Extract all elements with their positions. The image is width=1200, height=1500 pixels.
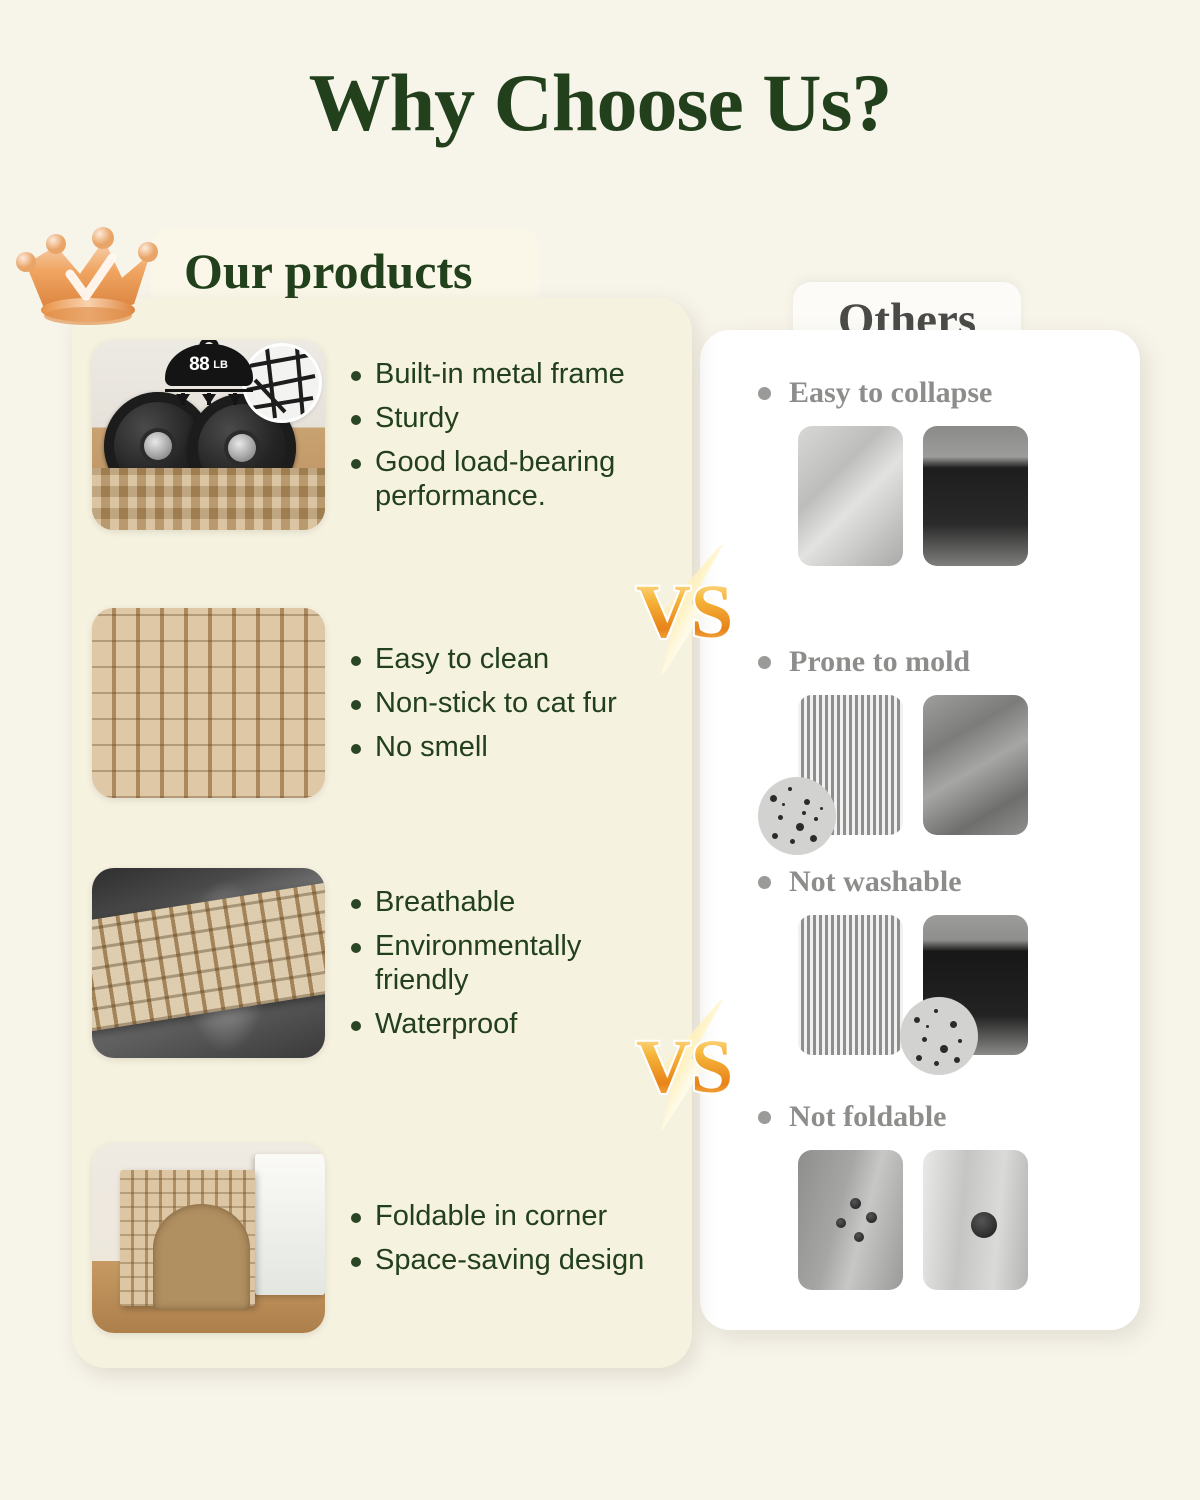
bullet-dot-icon	[351, 943, 361, 953]
others-thumb	[923, 1150, 1028, 1290]
others-row-collapse: Easy to collapse	[700, 376, 1140, 566]
others-thumb	[798, 1150, 903, 1290]
page-title: Why Choose Us?	[0, 62, 1200, 144]
down-arrow-icon	[228, 394, 242, 405]
others-row-label: Prone to mold	[789, 645, 970, 679]
feature-label: Non-stick to cat fur	[375, 686, 617, 720]
others-thumb	[923, 426, 1028, 566]
woven-rattan-texture-photo	[92, 608, 325, 798]
others-rows: Easy to collapse Prone to mold	[700, 330, 1140, 1330]
others-row-mold: Prone to mold	[700, 645, 1140, 835]
weights-in-basket-photo: 88 LB	[92, 340, 325, 530]
down-arrow-icon	[202, 394, 216, 405]
others-row-images	[700, 695, 1140, 835]
others-row-header: Not foldable	[700, 1100, 1140, 1134]
others-row-header: Prone to mold	[700, 645, 1140, 679]
vs-label: VS	[636, 570, 733, 654]
others-row-label: Not foldable	[789, 1100, 947, 1134]
product-features: Foldable in corner Space-saving design	[345, 1199, 692, 1277]
bullet-dot-icon	[351, 1213, 361, 1223]
weight-value: 88	[189, 354, 209, 376]
weight-unit: LB	[213, 359, 228, 371]
others-thumb	[798, 426, 903, 566]
down-arrow-icon	[176, 394, 190, 405]
others-row-images	[700, 1150, 1140, 1290]
feature-label: Easy to clean	[375, 642, 549, 676]
product-features: Built-in metal frame Sturdy Good load-be…	[345, 357, 692, 514]
feature-item: Breathable	[351, 885, 692, 919]
our-products-rows: 88 LB	[72, 298, 692, 1368]
others-thumb	[798, 915, 903, 1055]
feature-item: Foldable in corner	[351, 1199, 692, 1233]
feature-label: Built-in metal frame	[375, 357, 625, 391]
others-row-label: Not washable	[789, 865, 962, 899]
steam-through-weave-photo	[92, 868, 325, 1058]
bullet-dot-icon	[351, 459, 361, 469]
feature-item: Space-saving design	[351, 1243, 692, 1277]
feature-item: Non-stick to cat fur	[351, 686, 692, 720]
bullet-dot-icon	[758, 876, 771, 889]
bullet-dot-icon	[351, 371, 361, 381]
feature-item: Good load-bearing performance.	[351, 445, 692, 513]
others-row-header: Not washable	[700, 865, 1140, 899]
product-row-foldable: Foldable in corner Space-saving design	[72, 1143, 692, 1333]
product-row-clean: Easy to clean Non-stick to cat fur No sm…	[72, 608, 692, 798]
feature-label: Breathable	[375, 885, 515, 919]
vs-badge-top: VS	[630, 545, 740, 675]
others-thumb	[923, 695, 1028, 835]
feature-label: Space-saving design	[375, 1243, 644, 1277]
vs-label: VS	[636, 1025, 733, 1109]
folded-litter-box-photo	[92, 1143, 325, 1333]
feature-item: Built-in metal frame	[351, 357, 692, 391]
bullet-dot-icon	[758, 387, 771, 400]
our-products-tab-label: Our products	[184, 242, 473, 300]
bullet-dot-icon	[758, 1111, 771, 1124]
mold-spots-circle-icon	[900, 997, 978, 1075]
bullet-dot-icon	[351, 899, 361, 909]
feature-item: Environmentally friendly	[351, 929, 692, 997]
others-row-washable: Not washable	[700, 865, 1140, 1055]
feature-label: Good load-bearing performance.	[375, 445, 665, 513]
others-row-label: Easy to collapse	[789, 376, 992, 410]
others-row-foldable: Not foldable	[700, 1100, 1140, 1290]
feature-label: Foldable in corner	[375, 1199, 607, 1233]
bullet-dot-icon	[351, 700, 361, 710]
product-row-breathable: Breathable Environmentally friendly Wate…	[72, 868, 692, 1058]
bullet-dot-icon	[351, 656, 361, 666]
feature-item: No smell	[351, 730, 692, 764]
bullet-dot-icon	[351, 415, 361, 425]
feature-label: Environmentally friendly	[375, 929, 625, 997]
product-row-frame: 88 LB	[72, 340, 692, 530]
others-row-images	[700, 426, 1140, 566]
feature-label: Waterproof	[375, 1007, 517, 1041]
feature-label: No smell	[375, 730, 488, 764]
bullet-dot-icon	[351, 1257, 361, 1267]
bullet-dot-icon	[351, 744, 361, 754]
others-row-header: Easy to collapse	[700, 376, 1140, 410]
bullet-dot-icon	[351, 1021, 361, 1031]
vs-badge-bottom: VS	[630, 1000, 740, 1130]
others-row-images	[700, 915, 1140, 1055]
crown-check-icon	[8, 212, 168, 332]
feature-item: Sturdy	[351, 401, 692, 435]
mold-spots-circle-icon	[758, 777, 836, 855]
weight-badge: 88 LB	[163, 344, 255, 405]
feature-label: Sturdy	[375, 401, 459, 435]
bullet-dot-icon	[758, 656, 771, 669]
metal-frame-inset-icon	[245, 346, 319, 420]
